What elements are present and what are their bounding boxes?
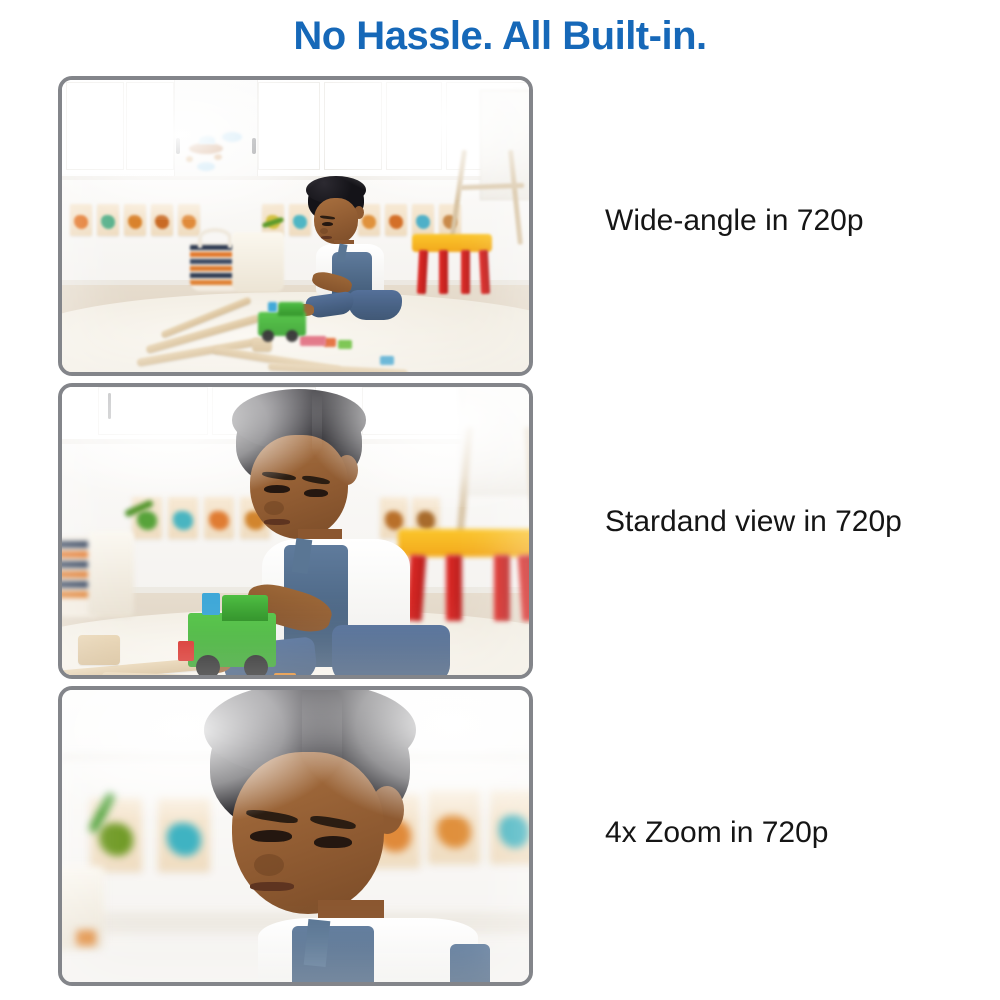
child-figure bbox=[188, 690, 488, 982]
door-handle bbox=[252, 138, 256, 154]
animal-card bbox=[97, 204, 119, 236]
toy-block bbox=[76, 930, 96, 946]
page-title: No Hassle. All Built-in. bbox=[0, 14, 1000, 59]
feature-row-wide-angle: Wide-angle in 720p bbox=[0, 76, 1000, 376]
toy-block bbox=[338, 340, 352, 349]
animal-card bbox=[168, 497, 198, 539]
feature-row-standard-view: Stardand view in 720p bbox=[0, 383, 1000, 679]
window-pane bbox=[324, 82, 382, 170]
door-handle bbox=[176, 138, 180, 154]
product-feature-panel: No Hassle. All Built-in. bbox=[0, 0, 1000, 1000]
kids-table-leg bbox=[461, 250, 470, 294]
child-leg bbox=[348, 290, 402, 320]
train-wheel bbox=[196, 655, 220, 675]
window-pane bbox=[126, 82, 174, 170]
toy-block bbox=[274, 673, 296, 675]
child-mouth bbox=[321, 236, 332, 239]
animal-card bbox=[70, 204, 92, 236]
child-overalls-side bbox=[450, 944, 490, 982]
scene-nursery-wide bbox=[62, 80, 529, 372]
window-pane bbox=[258, 82, 320, 170]
caption-wide-angle: Wide-angle in 720p bbox=[605, 204, 864, 238]
caption-standard-view: Stardand view in 720p bbox=[605, 505, 902, 539]
train-wheel bbox=[262, 330, 274, 342]
window-pane bbox=[66, 82, 124, 170]
child-eye bbox=[322, 222, 333, 226]
scene-toddler-closeup bbox=[62, 690, 529, 982]
cloth-bag bbox=[88, 531, 134, 617]
toy-block bbox=[380, 356, 394, 365]
train-wheel bbox=[286, 330, 298, 342]
child-leg bbox=[332, 625, 450, 675]
cloud-decal bbox=[197, 162, 215, 171]
basket-handle bbox=[198, 228, 232, 248]
ufo-decal bbox=[199, 136, 215, 144]
cloud-decal bbox=[222, 132, 242, 142]
animal-card bbox=[412, 204, 434, 236]
star-decal bbox=[186, 156, 193, 162]
train-chimney bbox=[268, 302, 277, 312]
train-wheel bbox=[244, 655, 268, 675]
animal-card bbox=[178, 204, 200, 236]
child-eye bbox=[304, 489, 328, 497]
feature-row-4x-zoom: 4x Zoom in 720p bbox=[0, 686, 1000, 986]
child-eye bbox=[250, 830, 292, 842]
train-chimney bbox=[202, 593, 220, 615]
window-pane bbox=[98, 387, 208, 435]
kids-table-leg bbox=[494, 555, 510, 621]
window-pane bbox=[386, 82, 442, 170]
animal-card bbox=[124, 204, 146, 236]
child-eye bbox=[264, 485, 290, 493]
wooden-track-block bbox=[78, 635, 120, 665]
ufo-decal bbox=[189, 143, 223, 154]
toy-train-cab bbox=[222, 595, 268, 621]
camera-preview-standard[interactable] bbox=[58, 383, 533, 679]
child-nose bbox=[320, 228, 328, 234]
child-mouth bbox=[250, 882, 294, 891]
scene-nursery-standard bbox=[62, 387, 529, 675]
child-eye bbox=[314, 836, 352, 848]
animal-card bbox=[151, 204, 173, 236]
caption-4x-zoom: 4x Zoom in 720p bbox=[605, 816, 828, 850]
child-nose bbox=[264, 501, 284, 515]
toy-block bbox=[300, 336, 326, 346]
animal-card bbox=[490, 790, 529, 864]
star-decal bbox=[214, 154, 222, 160]
window-divider bbox=[108, 393, 111, 419]
camera-preview-zoom[interactable] bbox=[58, 686, 533, 986]
toy-block bbox=[178, 641, 194, 661]
child-nose bbox=[254, 854, 284, 876]
child-figure bbox=[290, 178, 410, 338]
kids-table-leg bbox=[439, 250, 448, 294]
cloth-bag bbox=[232, 232, 284, 292]
camera-preview-wide-angle[interactable] bbox=[58, 76, 533, 376]
child-mouth bbox=[264, 519, 290, 525]
toy-train-cab bbox=[278, 302, 304, 316]
